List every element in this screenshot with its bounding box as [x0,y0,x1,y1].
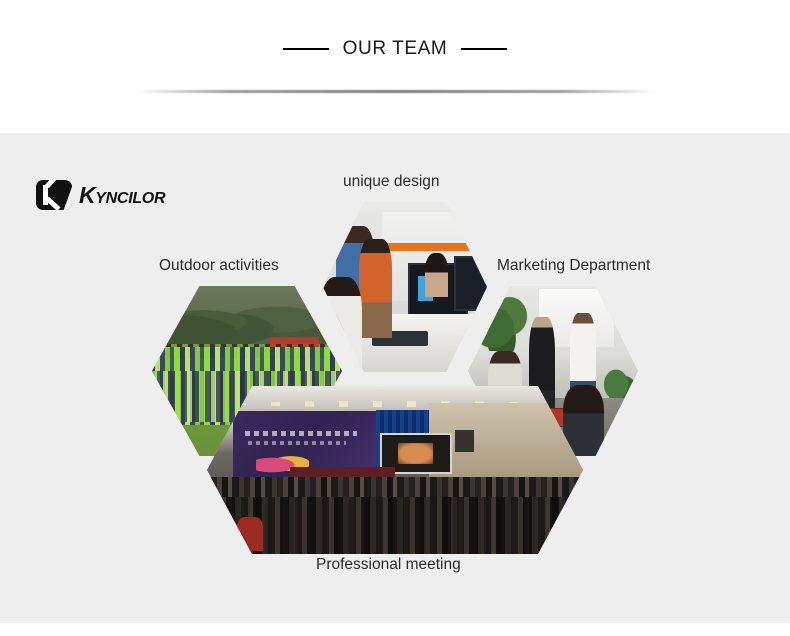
team-label-outdoor-activities: Outdoor activities [159,257,279,275]
title-rule-left-icon [283,48,329,50]
brand-name: Kyncilor [79,184,165,207]
photo-conference-hall [207,386,583,554]
brand-k-mark-icon [36,180,72,210]
page-header: OUR TEAM [0,0,790,133]
team-label-unique-design: unique design [343,173,440,191]
team-label-marketing-department: Marketing Department [497,257,650,275]
page-title: OUR TEAM [343,38,448,60]
section-title-row: OUR TEAM [0,38,790,60]
team-photo-professional-meeting [207,386,583,554]
team-label-professional-meeting: Professional meeting [316,556,461,574]
header-divider [135,90,655,93]
brand-logo: Kyncilor [36,180,165,210]
title-rule-right-icon [461,48,507,50]
